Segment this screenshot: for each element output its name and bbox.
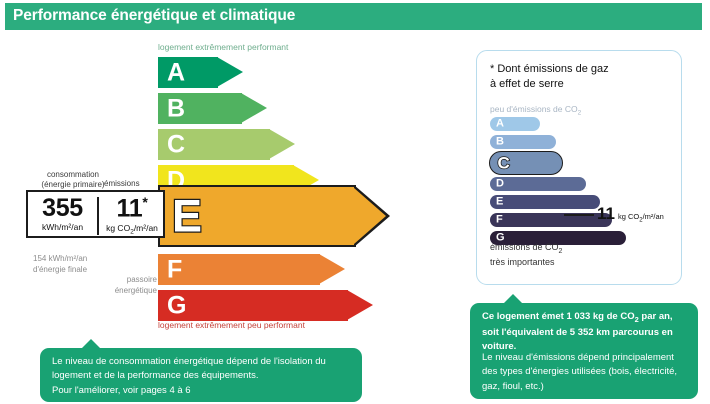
bar-tip bbox=[241, 93, 267, 123]
energy-class-bar-b: B bbox=[158, 93, 268, 124]
co2-class-letter-f: F bbox=[496, 215, 503, 226]
co2-leader-line bbox=[564, 214, 594, 216]
final-energy-note: 154 kWh/m²/an d'énergie finale bbox=[33, 254, 87, 276]
callout-left-line3: Pour l'améliorer, voir pages 4 à 6 bbox=[52, 384, 354, 398]
primary-energy-cell: 355 kWh/m²/an bbox=[28, 195, 97, 232]
co2-caption-top: peu d'émissions de CO2 bbox=[490, 104, 581, 117]
passoire-line2: énergétique bbox=[95, 286, 157, 297]
passoire-energetique-note: passoire énergétique bbox=[95, 275, 157, 297]
callout-left-line1: Le niveau de consommation énergétique dé… bbox=[52, 355, 354, 369]
energy-class-bar-a: A bbox=[158, 57, 244, 88]
co2-class-letter-e: E bbox=[496, 197, 503, 208]
energy-class-letter-f: F bbox=[167, 257, 182, 282]
energy-class-bar-f: F bbox=[158, 254, 346, 285]
energy-class-letter-b: B bbox=[167, 96, 185, 121]
co2-info-callout: Ce logement émet 1 033 kg de CO2 par an,… bbox=[470, 303, 698, 399]
energy-class-bar-c: C bbox=[158, 129, 296, 160]
callout-left-line2: logement et de la performance des équipe… bbox=[52, 369, 354, 383]
final-energy-line2: d'énergie finale bbox=[33, 265, 87, 276]
consumption-label-line2: (énergie primaire) bbox=[33, 180, 113, 190]
co2-title-line1: Dont émissions de gaz bbox=[497, 63, 608, 75]
energy-class-letter-a: A bbox=[167, 60, 185, 85]
energy-class-letter-c: C bbox=[167, 132, 185, 157]
co2-class-bar-b: B bbox=[490, 135, 556, 149]
bar-tip bbox=[217, 57, 243, 87]
emissions-value-wrap: 11* bbox=[98, 195, 166, 222]
emissions-label: émissions bbox=[104, 179, 140, 188]
co2-caption-bottom-line2: très importantes bbox=[490, 257, 555, 267]
scale-caption-top: logement extrêmement performant bbox=[158, 42, 288, 52]
co2-class-letter-c: C bbox=[498, 155, 510, 172]
primary-energy-unit: kWh/m²/an bbox=[28, 222, 97, 232]
final-energy-line1: 154 kWh/m²/an bbox=[33, 254, 87, 265]
co2-title-line2: à effet de serre bbox=[490, 78, 564, 90]
co2-class-letter-b: B bbox=[496, 137, 504, 148]
energy-class-letter-g: G bbox=[167, 293, 186, 318]
emissions-unit: kg CO2/m²/an bbox=[98, 223, 166, 236]
co2-title-star: * bbox=[490, 63, 494, 75]
emissions-cell: 11* kg CO2/m²/an bbox=[98, 195, 166, 235]
page-header: Performance énergétique et climatique bbox=[5, 3, 702, 30]
emissions-star: * bbox=[142, 194, 147, 210]
consumption-label: consommation (énergie primaire) bbox=[33, 170, 113, 190]
co2-class-bar-c: C bbox=[489, 151, 563, 175]
primary-energy-value: 355 bbox=[28, 195, 97, 221]
co2-class-bar-e: E bbox=[490, 195, 600, 209]
energy-current-letter: E bbox=[172, 194, 202, 239]
bar-tip bbox=[347, 290, 373, 320]
co2-value: 11 bbox=[597, 204, 615, 223]
callout-right-normal: Le niveau d'émissions dépend principalem… bbox=[482, 351, 690, 394]
emissions-value: 11 bbox=[117, 194, 143, 222]
co2-class-bar-d: D bbox=[490, 177, 586, 191]
energy-current-tip-fill bbox=[354, 188, 386, 244]
callout-pointer bbox=[504, 294, 522, 303]
bar-tip bbox=[319, 254, 345, 284]
co2-class-bar-a: A bbox=[490, 117, 540, 131]
co2-panel-title: * Dont émissions de gaz à effet de serre bbox=[490, 62, 673, 92]
bar-body bbox=[158, 254, 320, 285]
consumption-info-callout: Le niveau de consommation énergétique dé… bbox=[40, 348, 362, 402]
co2-class-letter-d: D bbox=[496, 179, 504, 190]
callout-left-text: Le niveau de consommation énergétique dé… bbox=[52, 355, 354, 398]
co2-emissions-panel: * Dont émissions de gaz à effet de serre… bbox=[476, 50, 682, 285]
passoire-line1: passoire bbox=[95, 275, 157, 286]
co2-class-letter-a: A bbox=[496, 119, 504, 130]
bar-body bbox=[158, 290, 348, 321]
callout-right-bold: Ce logement émet 1 033 kg de CO2 par an,… bbox=[482, 310, 688, 353]
bar-tip bbox=[269, 129, 295, 159]
scale-caption-bottom: logement extrêmement peu performant bbox=[158, 320, 305, 330]
co2-value-group: 11kg CO2/m²/an bbox=[597, 204, 664, 224]
callout-pointer bbox=[82, 339, 100, 348]
consumption-label-line1: consommation bbox=[33, 170, 113, 180]
co2-caption-bottom: émissions de CO2 très importantes bbox=[490, 241, 562, 268]
energy-class-bar-g: G bbox=[158, 290, 374, 321]
energy-value-box: 355 kWh/m²/an 11* kg CO2/m²/an bbox=[26, 190, 165, 238]
co2-value-unit: kg CO2/m²/an bbox=[618, 212, 664, 221]
page-title: Performance énergétique et climatique bbox=[13, 7, 295, 25]
